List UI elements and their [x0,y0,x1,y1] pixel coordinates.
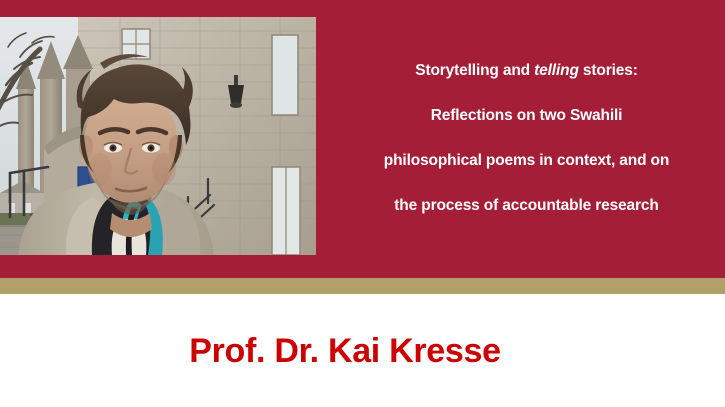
title-line-1: Storytelling and telling stories: [328,48,725,93]
title-line-3: philosophical poems in context, and on [328,138,725,183]
speaker-photo [0,17,316,255]
title-line-4: the process of accountable research [328,183,725,228]
speaker-photo-image [0,17,316,255]
title-line-2: Reflections on two Swahili [328,93,725,138]
title-emphasis: telling [534,62,579,79]
speaker-name: Prof. Dr. Kai Kresse [0,330,690,372]
presentation-slide: Storytelling and telling stories: Reflec… [0,0,725,407]
gold-accent-band [0,278,725,294]
lecture-title: Storytelling and telling stories: Reflec… [328,48,725,228]
